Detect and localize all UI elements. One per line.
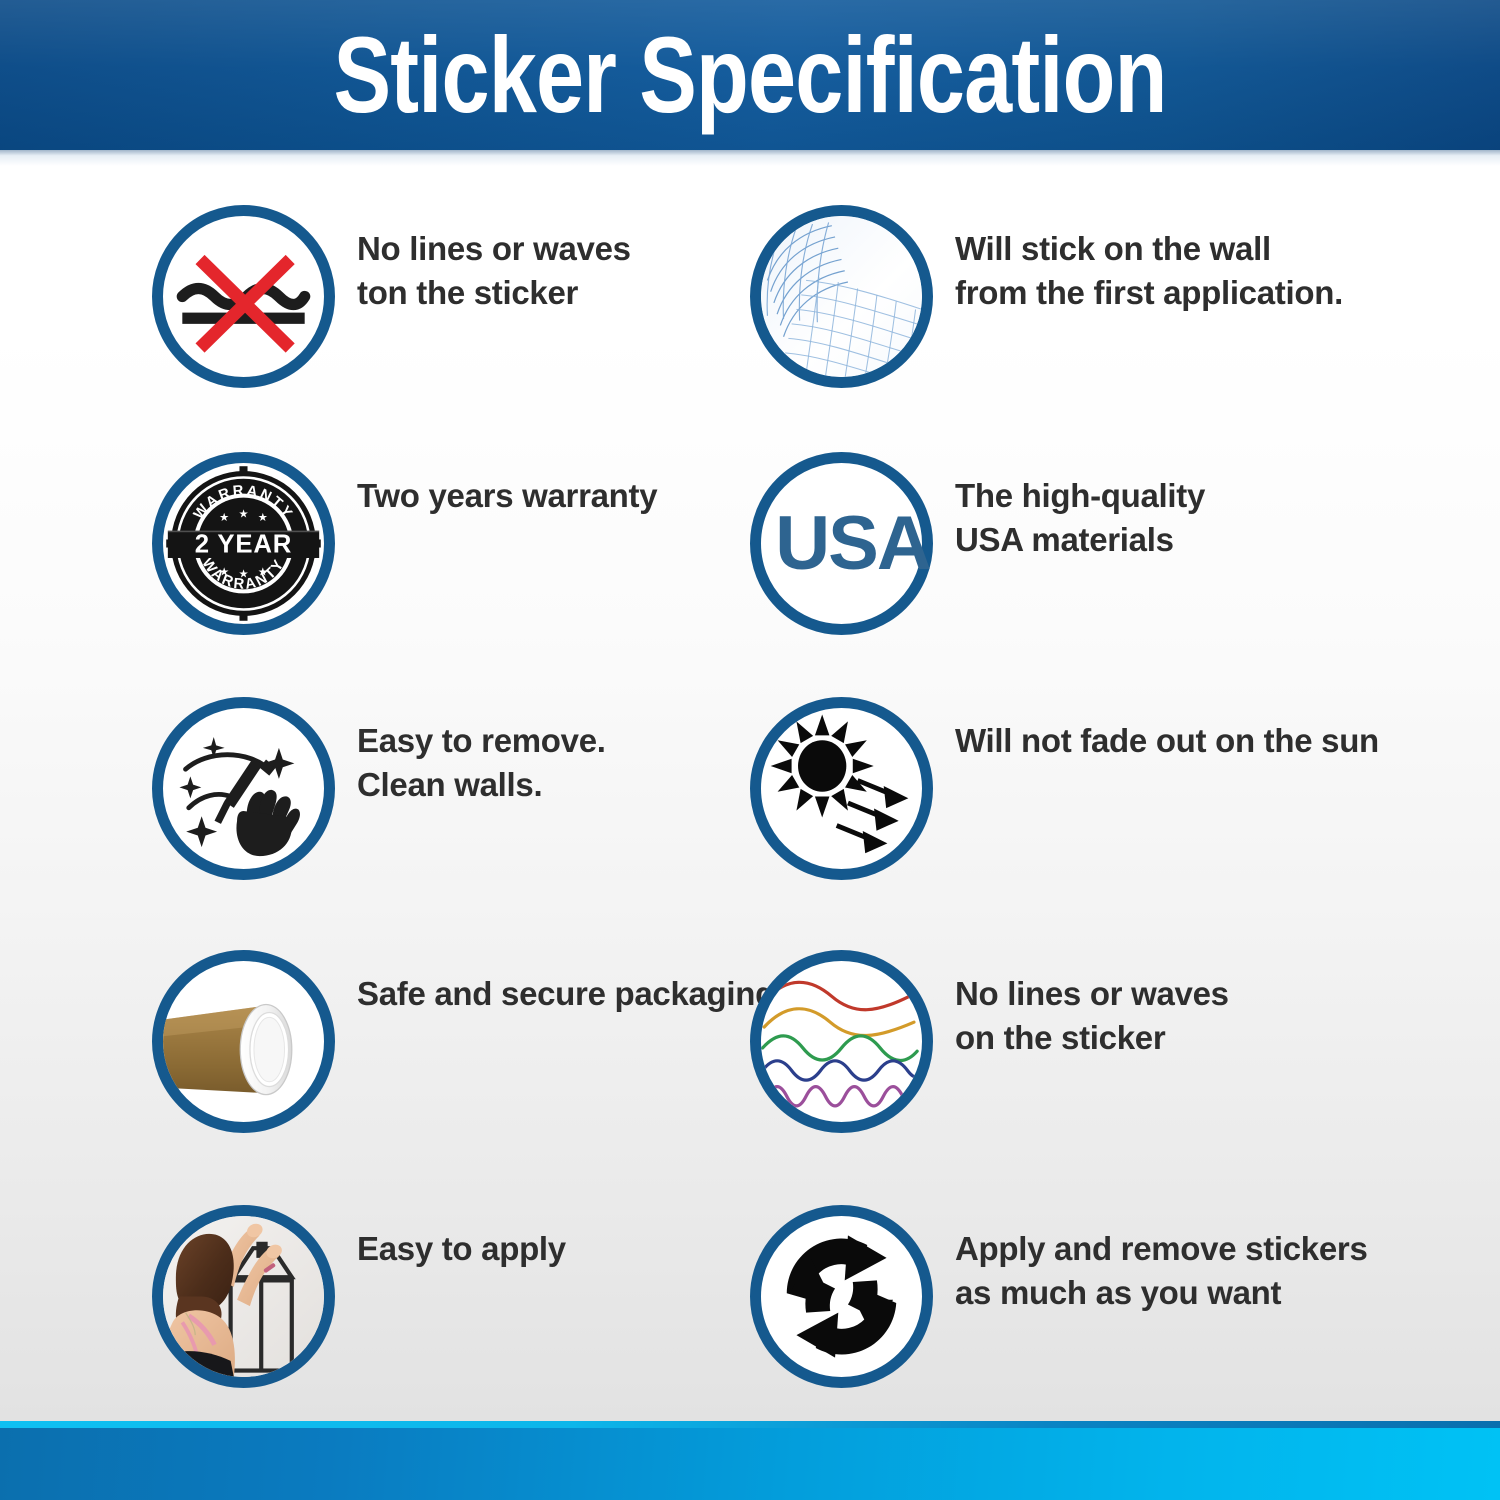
- feature-grid: No lines or waves ton the sticker: [0, 165, 1500, 1420]
- feature-label: Apply and remove stickers as much as you…: [955, 1205, 1368, 1315]
- feature-label: Two years warranty: [357, 452, 657, 518]
- usa-label: USA: [751, 506, 954, 582]
- svg-text:★: ★: [238, 567, 248, 580]
- sun-with-rays-icon: [750, 697, 933, 880]
- feature-easy-to-remove: Easy to remove. Clean walls.: [152, 697, 606, 880]
- header-drop-shadow: [0, 150, 1500, 166]
- feature-easy-to-apply: Easy to apply: [152, 1205, 566, 1388]
- feature-label: The high-quality USA materials: [955, 452, 1205, 562]
- feature-label: Will not fade out on the sun: [955, 697, 1379, 763]
- feature-label: Safe and secure packaging: [357, 950, 775, 1016]
- feature-label: Will stick on the wall from the first ap…: [955, 205, 1343, 315]
- feature-label: Easy to remove. Clean walls.: [357, 697, 606, 807]
- shipping-tube-icon: [152, 950, 335, 1133]
- reapply-cycle-arrows-icon: [750, 1205, 933, 1388]
- feature-two-years-warranty: WARRANTY WARRANTY ★★★ ★★★ 2 YEAR: [152, 452, 657, 635]
- cleaning-hand-sparkles-icon: [152, 697, 335, 880]
- svg-text:★: ★: [258, 511, 268, 524]
- two-year-warranty-badge-icon: WARRANTY WARRANTY ★★★ ★★★ 2 YEAR: [152, 452, 335, 635]
- feature-apply-remove-repeat: Apply and remove stickers as much as you…: [750, 1205, 1368, 1388]
- woman-applying-decal-photo-icon: [152, 1205, 335, 1388]
- feature-usa-materials: USA The high-quality USA materials: [750, 452, 1205, 635]
- colored-sine-waves-icon: [750, 950, 933, 1133]
- feature-will-stick-on-wall: Will stick on the wall from the first ap…: [750, 205, 1343, 388]
- feature-safe-packaging: Safe and secure packaging: [152, 950, 775, 1133]
- feature-label: Easy to apply: [357, 1205, 566, 1271]
- no-waves-crossed-out-icon: [152, 205, 335, 388]
- svg-text:2 YEAR: 2 YEAR: [195, 531, 292, 559]
- page-title: Sticker Specification: [150, 12, 1350, 137]
- svg-text:★: ★: [238, 508, 248, 521]
- feature-no-lines-colored: No lines or waves on the sticker: [750, 950, 1229, 1133]
- footer-accent-line: [0, 1421, 1500, 1428]
- usa-materials-icon: USA: [750, 452, 933, 635]
- feature-will-not-fade: Will not fade out on the sun: [750, 697, 1379, 880]
- svg-text:★: ★: [219, 511, 229, 524]
- svg-text:★: ★: [219, 566, 229, 579]
- footer-banner: [0, 1428, 1500, 1500]
- svg-text:★: ★: [258, 566, 268, 579]
- feature-label: No lines or waves on the sticker: [955, 950, 1229, 1060]
- infographic-page: Sticker Specification No lines or waves …: [0, 0, 1500, 1500]
- transparent-film-roll-icon: [750, 205, 933, 388]
- feature-no-lines-or-waves: No lines or waves ton the sticker: [152, 205, 631, 388]
- feature-label: No lines or waves ton the sticker: [357, 205, 631, 315]
